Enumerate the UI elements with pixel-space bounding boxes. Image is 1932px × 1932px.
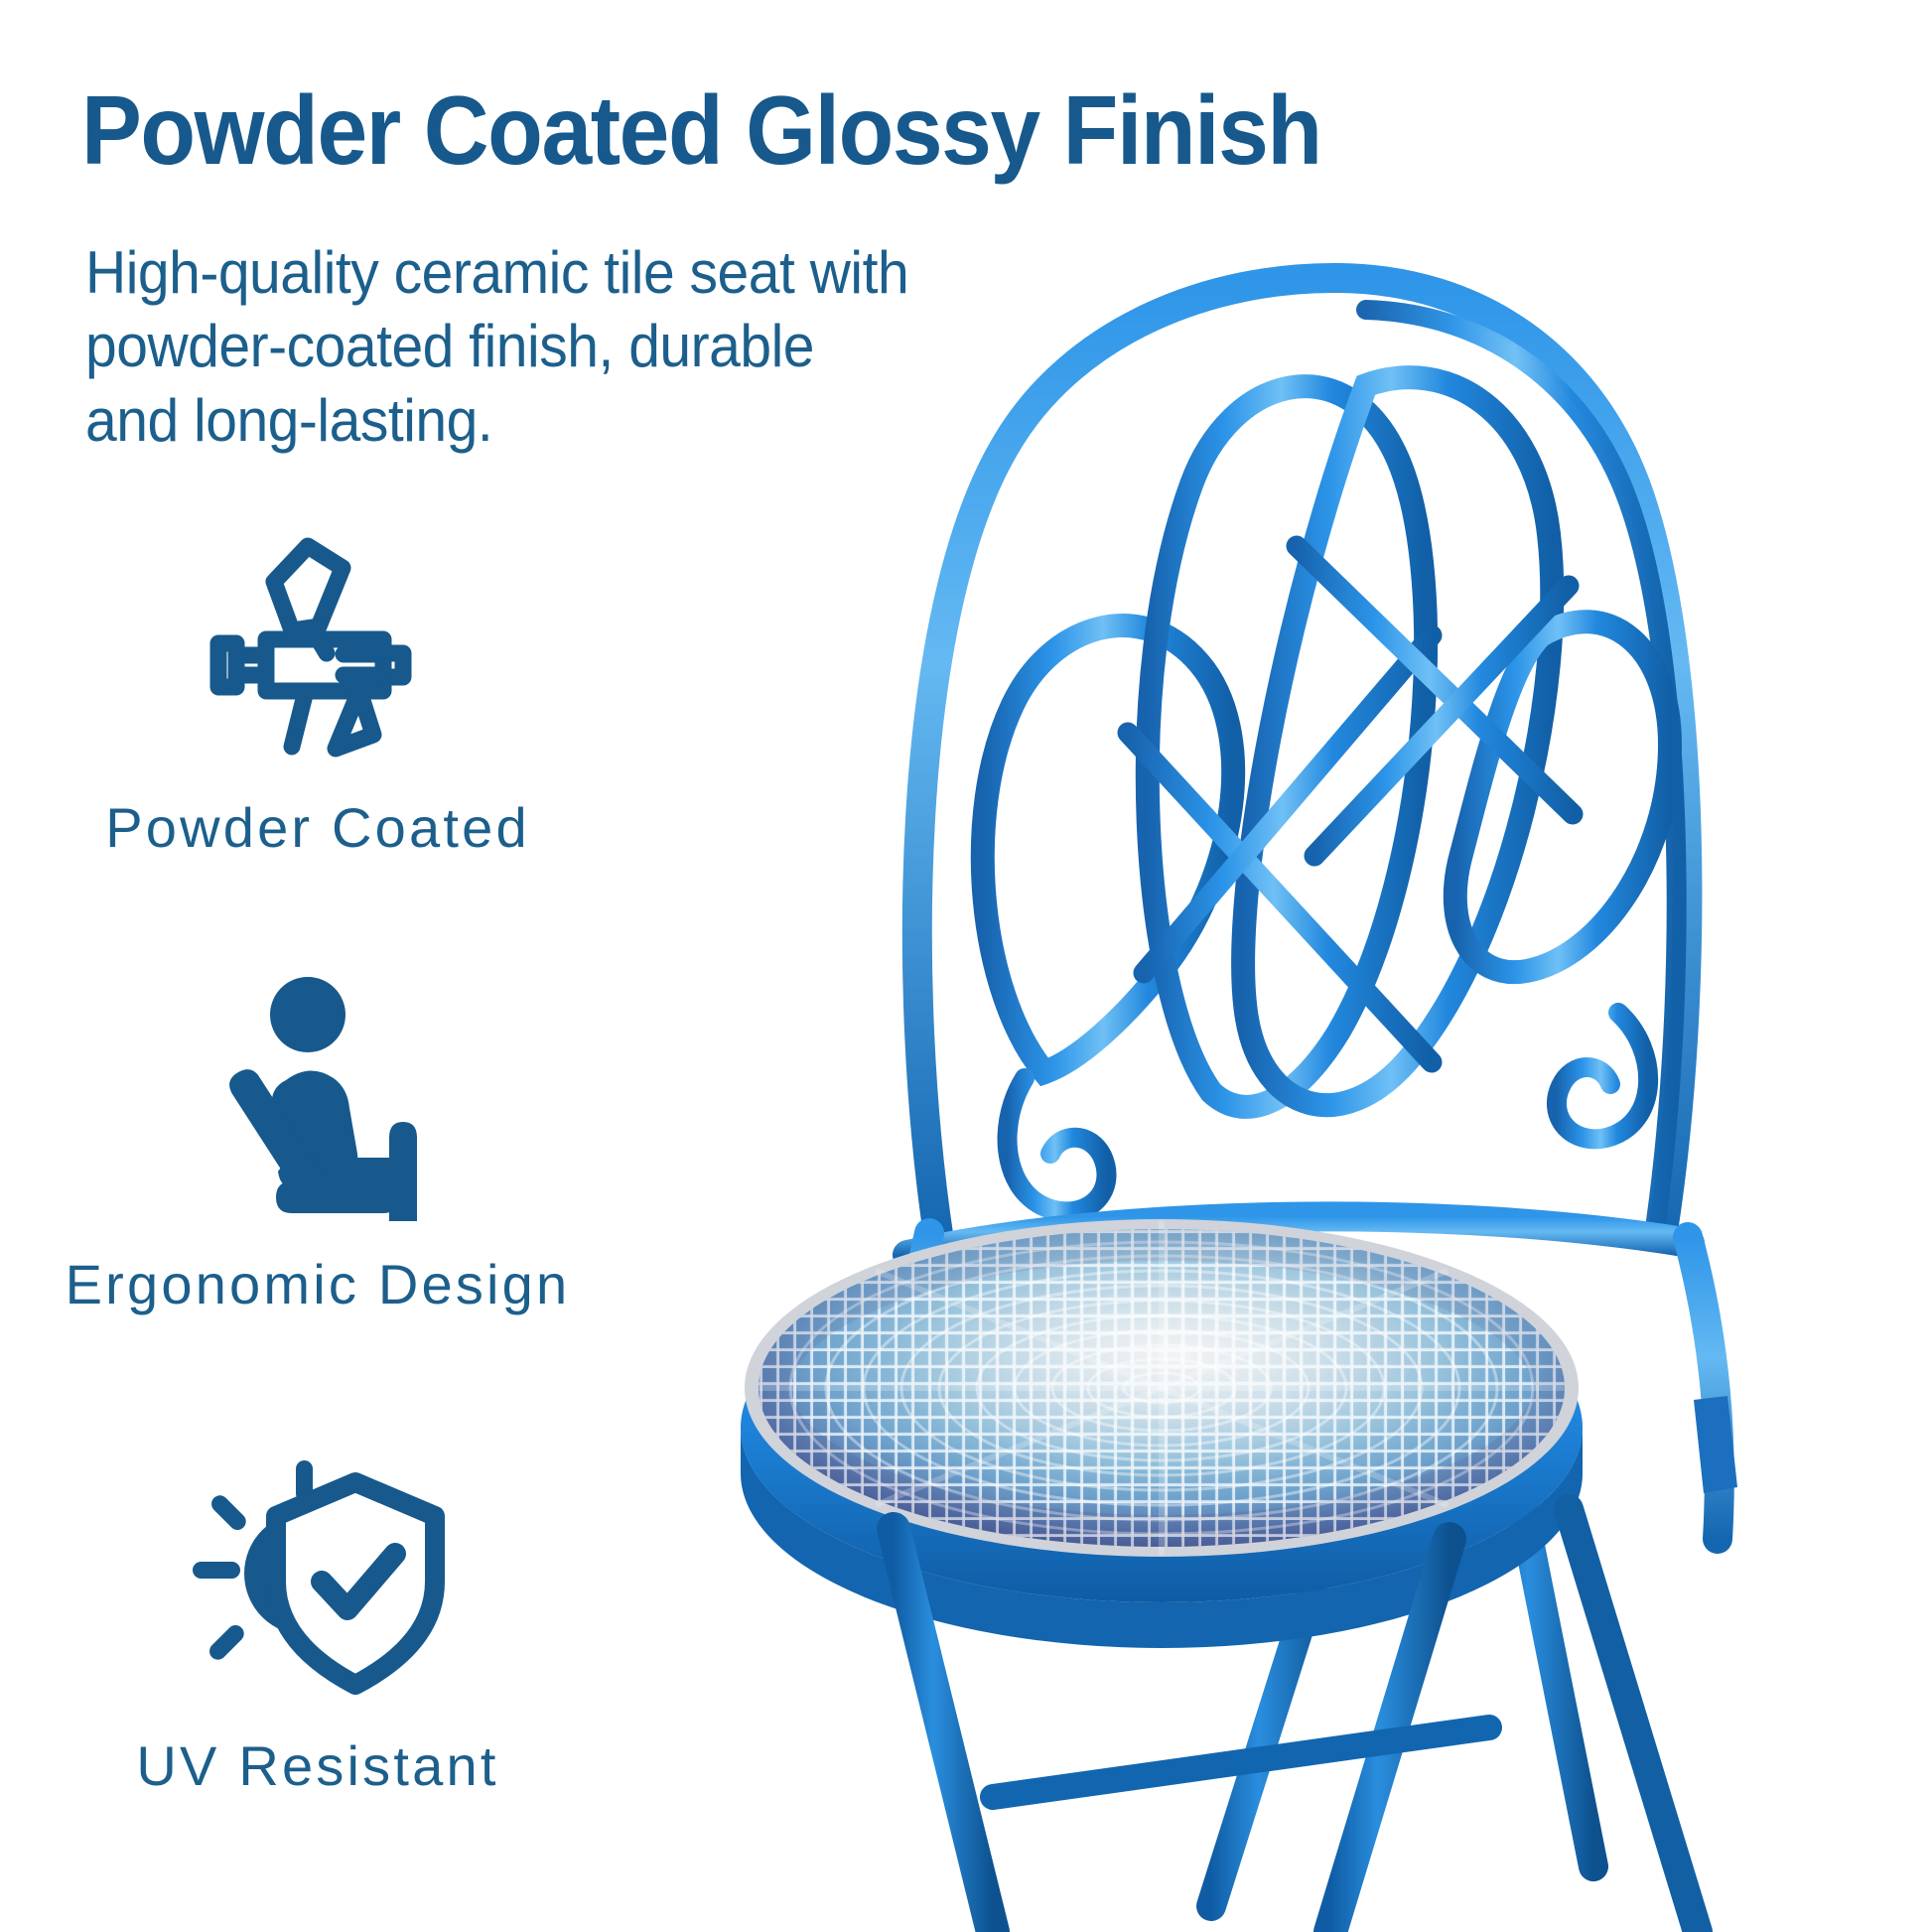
feature-label-ergonomic-design: Ergonomic Design (0, 1252, 635, 1316)
infographic-canvas: Powder Coated Glossy Finish High-quality… (0, 0, 1932, 1932)
product-image-folding-bistro-chair (695, 119, 1932, 1932)
spray-gun-icon (0, 516, 635, 769)
feature-uv-resistant: UV Resistant (0, 1454, 635, 1798)
feature-label-uv-resistant: UV Resistant (0, 1733, 635, 1798)
seated-person-icon (0, 973, 635, 1226)
feature-ergonomic-design: Ergonomic Design (0, 973, 635, 1316)
feature-powder-coated: Powder Coated (0, 516, 635, 860)
feature-label-powder-coated: Powder Coated (0, 795, 635, 860)
sun-shield-check-icon (0, 1454, 635, 1708)
